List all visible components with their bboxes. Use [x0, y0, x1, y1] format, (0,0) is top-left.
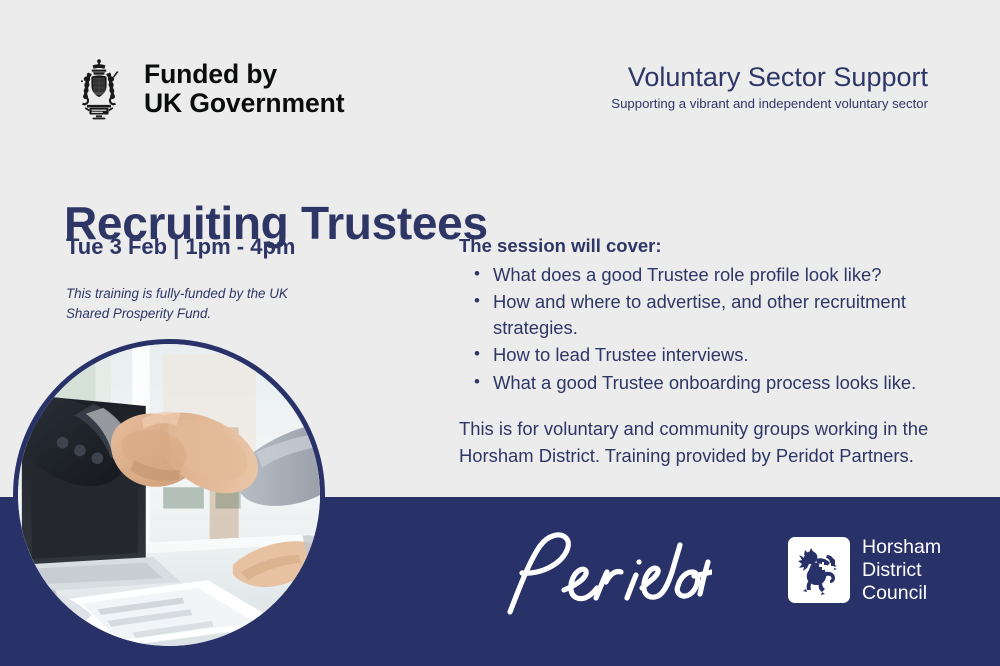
hdc-line-2: District [862, 559, 941, 582]
uk-royal-coat-of-arms-icon [68, 56, 130, 122]
funded-by-uk-government-logo: Funded by UK Government [68, 56, 344, 122]
brand-tagline: Supporting a vibrant and independent vol… [611, 96, 928, 111]
hdc-line-1: Horsham [862, 536, 941, 559]
horsham-lion-rampant-icon [797, 545, 841, 595]
hdc-line-3: Council [862, 582, 941, 605]
brand-title: Voluntary Sector Support [611, 62, 928, 93]
session-heading: The session will cover: [459, 235, 949, 257]
list-item: What does a good Trustee role profile lo… [493, 262, 949, 288]
funded-by-label: Funded by UK Government [144, 60, 344, 117]
funding-note: This training is fully-funded by the UK … [66, 284, 326, 325]
list-item: What a good Trustee onboarding process l… [493, 370, 949, 396]
poster-canvas: Funded by UK Government Voluntary Sector… [0, 0, 1000, 666]
horsham-district-council-logo: Horsham District Council [788, 536, 941, 604]
funded-line-1: Funded by [144, 60, 344, 89]
horsham-lion-mark [788, 537, 850, 603]
session-details: The session will cover: What does a good… [459, 235, 949, 397]
list-item: How to lead Trustee interviews. [493, 342, 949, 368]
handshake-photo-frame [18, 344, 320, 646]
peridot-logo [492, 528, 712, 620]
funded-line-2: UK Government [144, 89, 344, 118]
voluntary-sector-support-logo: Voluntary Sector Support Supporting a vi… [611, 62, 928, 111]
handshake-photo-illustration [18, 344, 320, 646]
audience-description: This is for voluntary and community grou… [459, 416, 951, 469]
peridot-script-wordmark [492, 528, 712, 620]
session-bullet-list: What does a good Trustee role profile lo… [459, 262, 949, 396]
handshake-photo [13, 339, 325, 651]
horsham-district-council-label: Horsham District Council [862, 536, 941, 604]
event-datetime: Tue 3 Feb | 1pm - 4pm [66, 234, 295, 260]
list-item: How and where to advertise, and other re… [493, 289, 949, 341]
